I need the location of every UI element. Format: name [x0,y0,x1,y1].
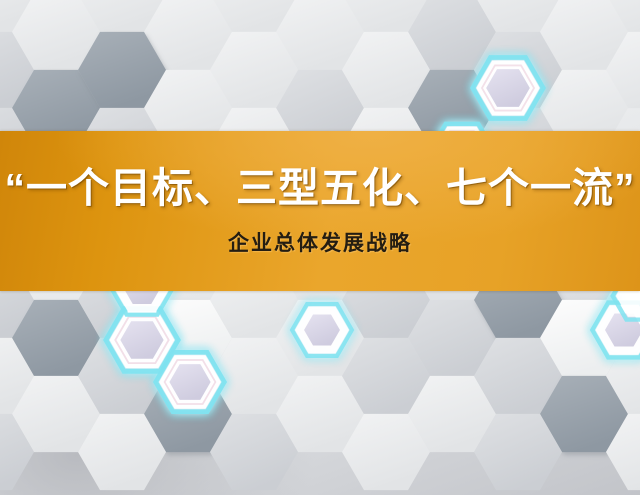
banner-content: “一个目标、三型五化、七个一流” 企业总体发展战略 [0,131,640,291]
slide-subtitle: 企业总体发展战略 [228,233,412,254]
slide-title: “一个目标、三型五化、七个一流” [5,168,636,209]
title-banner: “一个目标、三型五化、七个一流” 企业总体发展战略 [0,131,640,291]
presentation-slide: “一个目标、三型五化、七个一流” 企业总体发展战略 [0,0,640,495]
